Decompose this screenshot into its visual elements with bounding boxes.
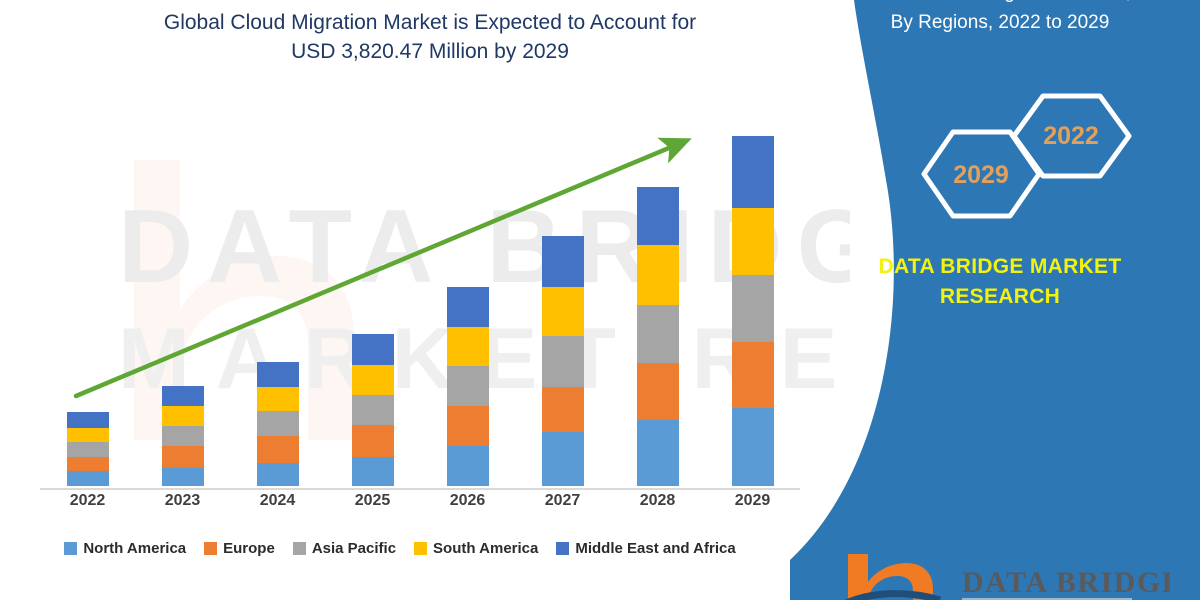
bar-segment[interactable] xyxy=(542,236,584,287)
infographic-canvas: DATA BRIDGE MARKET RESEARCH Global Cloud… xyxy=(0,0,1200,600)
x-axis-label-2028: 2028 xyxy=(610,492,705,510)
bar-segment[interactable] xyxy=(447,406,489,446)
bar-segment[interactable] xyxy=(67,457,109,471)
stacked-bar[interactable] xyxy=(542,236,584,486)
bar-segment[interactable] xyxy=(352,365,394,395)
brand-name-line-1: DATA BRIDGE MARKET xyxy=(810,252,1190,282)
bar-group-2026[interactable] xyxy=(420,287,515,486)
chart-title-line-2: USD 3,820.47 Million by 2029 xyxy=(60,37,800,66)
bar-segment[interactable] xyxy=(542,387,584,433)
bar-segment[interactable] xyxy=(352,395,394,426)
legend-item[interactable]: Europe xyxy=(204,540,275,557)
x-axis-labels: 20222023202420252026202720282029 xyxy=(40,492,800,522)
svg-text:DATA BRIDGE: DATA BRIDGE xyxy=(962,566,1170,599)
legend-item[interactable]: Asia Pacific xyxy=(293,540,396,557)
legend-swatch-icon xyxy=(556,542,569,555)
bar-segment[interactable] xyxy=(447,446,489,486)
brand-logo-mark-icon xyxy=(844,554,940,600)
bar-segment[interactable] xyxy=(162,468,204,486)
stacked-bar[interactable] xyxy=(637,187,679,486)
svg-text:2029: 2029 xyxy=(953,161,1009,189)
brand-subtitle: Global Cloud Migration Market, By Region… xyxy=(820,0,1180,38)
legend-label: Asia Pacific xyxy=(312,540,396,557)
x-axis-label-2022: 2022 xyxy=(40,492,135,510)
bar-segment[interactable] xyxy=(257,436,299,463)
x-axis-label-2024: 2024 xyxy=(230,492,325,510)
chart-title: Global Cloud Migration Market is Expecte… xyxy=(60,8,800,66)
legend-swatch-icon xyxy=(414,542,427,555)
legend-swatch-icon xyxy=(204,542,217,555)
bar-segment[interactable] xyxy=(637,245,679,305)
chart-panel: DATA BRIDGE MARKET RESEARCH Global Cloud… xyxy=(0,0,850,600)
x-axis-label-2025: 2025 xyxy=(325,492,420,510)
brand-logo: DATA BRIDGE xyxy=(840,552,1170,600)
bar-segment[interactable] xyxy=(67,428,109,443)
stacked-bar[interactable] xyxy=(352,334,394,486)
bar-segment[interactable] xyxy=(352,425,394,457)
bar-segment[interactable] xyxy=(257,387,299,412)
bar-group-2028[interactable] xyxy=(610,187,705,486)
bar-segment[interactable] xyxy=(732,408,774,486)
bar-segment[interactable] xyxy=(162,426,204,446)
brand-name: DATA BRIDGE MARKET RESEARCH xyxy=(810,252,1190,312)
bar-group-2024[interactable] xyxy=(230,362,325,486)
bar-segment[interactable] xyxy=(257,463,299,486)
legend-label: South America xyxy=(433,540,538,557)
brand-subtitle-line-2: By Regions, 2022 to 2029 xyxy=(820,8,1180,38)
legend-item[interactable]: South America xyxy=(414,540,538,557)
stacked-bar[interactable] xyxy=(67,412,109,486)
bar-group-2025[interactable] xyxy=(325,334,420,486)
x-axis-label-2027: 2027 xyxy=(515,492,610,510)
bar-segment[interactable] xyxy=(542,287,584,336)
bar-segment[interactable] xyxy=(257,411,299,436)
bar-segment[interactable] xyxy=(67,471,109,486)
brand-subtitle-line-1: Global Cloud Migration Market, xyxy=(820,0,1180,8)
bar-segment[interactable] xyxy=(732,208,774,276)
chart-title-line-1: Global Cloud Migration Market is Expecte… xyxy=(60,8,800,37)
bar-segment[interactable] xyxy=(732,342,774,409)
svg-text:2022: 2022 xyxy=(1043,122,1099,150)
bar-segment[interactable] xyxy=(67,442,109,457)
year-hexagon-badges: 2022 2029 xyxy=(910,88,1140,223)
bar-segment[interactable] xyxy=(352,457,394,486)
plot-area xyxy=(40,100,800,490)
bar-segment[interactable] xyxy=(637,420,679,486)
stacked-bar[interactable] xyxy=(257,362,299,486)
legend-label: Middle East and Africa xyxy=(575,540,735,557)
brand-name-line-2: RESEARCH xyxy=(810,282,1190,312)
legend-swatch-icon xyxy=(64,542,77,555)
bar-segment[interactable] xyxy=(257,362,299,387)
stacked-bar[interactable] xyxy=(732,136,774,486)
bar-segment[interactable] xyxy=(447,287,489,327)
bar-segment[interactable] xyxy=(162,406,204,426)
bar-segment[interactable] xyxy=(447,327,489,366)
bar-segment[interactable] xyxy=(447,366,489,407)
stacked-bar[interactable] xyxy=(447,287,489,486)
legend-label: North America xyxy=(83,540,186,557)
bar-series-container xyxy=(40,100,800,486)
x-axis-label-2026: 2026 xyxy=(420,492,515,510)
bar-group-2027[interactable] xyxy=(515,236,610,486)
bar-segment[interactable] xyxy=(542,432,584,486)
chart-legend: North AmericaEuropeAsia PacificSouth Ame… xyxy=(0,540,800,557)
stacked-bar[interactable] xyxy=(162,386,204,486)
bar-segment[interactable] xyxy=(67,412,109,428)
bar-group-2029[interactable] xyxy=(705,136,800,486)
bar-segment[interactable] xyxy=(637,363,679,421)
legend-item[interactable]: Middle East and Africa xyxy=(556,540,735,557)
x-axis-label-2029: 2029 xyxy=(705,492,800,510)
bar-segment[interactable] xyxy=(162,386,204,406)
bar-segment[interactable] xyxy=(637,305,679,363)
bar-group-2022[interactable] xyxy=(40,412,135,486)
legend-label: Europe xyxy=(223,540,275,557)
bar-segment[interactable] xyxy=(732,275,774,342)
brand-panel: Global Cloud Migration Market, By Region… xyxy=(790,0,1200,600)
x-axis-line xyxy=(40,488,800,490)
bar-segment[interactable] xyxy=(162,446,204,468)
bar-segment[interactable] xyxy=(732,136,774,208)
bar-segment[interactable] xyxy=(637,187,679,246)
legend-item[interactable]: North America xyxy=(64,540,186,557)
bar-segment[interactable] xyxy=(542,336,584,387)
bar-group-2023[interactable] xyxy=(135,386,230,486)
bar-segment[interactable] xyxy=(352,334,394,365)
legend-swatch-icon xyxy=(293,542,306,555)
x-axis-label-2023: 2023 xyxy=(135,492,230,510)
